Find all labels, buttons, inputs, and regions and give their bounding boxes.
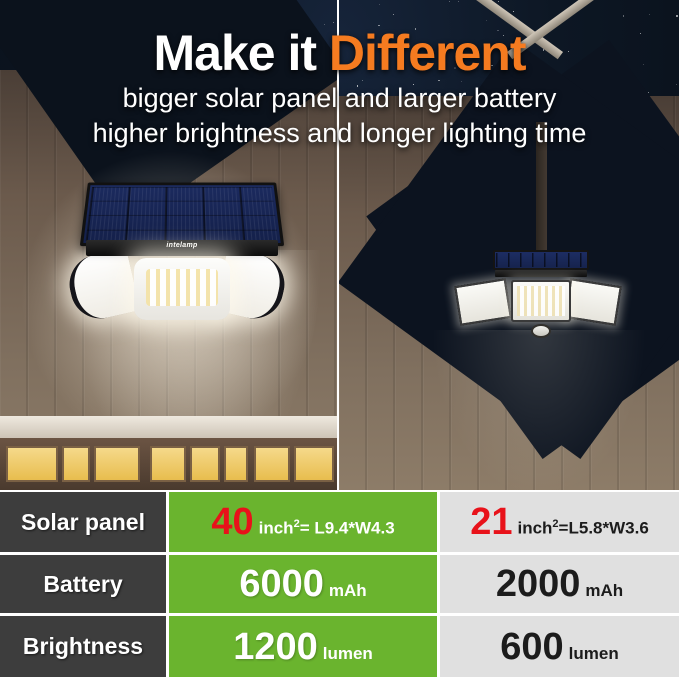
theirs-value-brightness: 600 xyxy=(500,628,563,666)
led-array-center xyxy=(146,269,218,306)
ours-unit-battery: mAh xyxy=(329,581,367,601)
table-row: Solar panel 40 inch2= L9.4*W4.3 21 inch2… xyxy=(0,492,679,552)
lit-window xyxy=(190,446,220,482)
brand-logo: intelamp xyxy=(86,242,278,249)
solar-panel-small xyxy=(493,250,589,270)
ours-value-solar-panel: 40 xyxy=(211,503,253,541)
ours-value-brightness: 1200 xyxy=(233,628,318,666)
ours-cell-brightness: 1200 lumen xyxy=(169,616,437,677)
motion-sensor-icon xyxy=(531,324,551,338)
window-band-left xyxy=(0,438,337,490)
led-head-left-small xyxy=(454,278,512,326)
theirs-unit-brightness: lumen xyxy=(569,644,619,664)
lit-window xyxy=(150,446,186,482)
ours-cell-solar-panel: 40 inch2= L9.4*W4.3 xyxy=(169,492,437,552)
led-head-center xyxy=(134,258,230,320)
ours-value-battery: 6000 xyxy=(239,565,324,603)
soffit-left xyxy=(0,416,337,438)
product-body-bar-small xyxy=(495,270,587,277)
lit-window xyxy=(62,446,90,482)
theirs-cell-battery: 2000 mAh xyxy=(440,555,679,613)
ours-unit-brightness: lumen xyxy=(323,644,373,664)
lit-window xyxy=(6,446,58,482)
led-head-left xyxy=(64,248,141,325)
solar-cells-large xyxy=(86,187,279,241)
product-light-large: intelamp xyxy=(62,180,292,330)
table-row: Brightness 1200 lumen 600 lumen xyxy=(0,616,679,677)
comparison-table: Solar panel 40 inch2= L9.4*W4.3 21 inch2… xyxy=(0,490,679,679)
theirs-value-solar-panel: 21 xyxy=(470,503,512,541)
theirs-cell-solar-panel: 21 inch2=L5.8*W3.6 xyxy=(440,492,679,552)
led-head-right-small xyxy=(564,278,622,326)
subtitle-line-1: bigger solar panel and larger battery xyxy=(0,82,679,115)
page-title: Make it Different xyxy=(0,26,679,80)
title-accent: Different xyxy=(329,25,526,81)
light-spill-right xyxy=(431,330,647,490)
ours-unit-solar-panel: inch2= L9.4*W4.3 xyxy=(259,518,395,539)
led-array-center-small xyxy=(517,286,565,316)
lit-window xyxy=(224,446,248,482)
row-label-battery: Battery xyxy=(0,555,166,613)
solar-panel-large xyxy=(80,183,284,247)
lit-window xyxy=(294,446,334,482)
table-row: Battery 6000 mAh 2000 mAh xyxy=(0,555,679,613)
theirs-value-battery: 2000 xyxy=(496,565,581,603)
lit-window xyxy=(94,446,140,482)
led-head-center-small xyxy=(511,280,571,322)
title-plain: Make it xyxy=(154,25,329,81)
subtitle-line-2: higher brightness and longer lighting ti… xyxy=(0,117,679,150)
header-banner: Make it Different bigger solar panel and… xyxy=(0,0,679,172)
row-label-brightness: Brightness xyxy=(0,616,166,677)
row-label-solar-panel: Solar panel xyxy=(0,492,166,552)
ours-cell-battery: 6000 mAh xyxy=(169,555,437,613)
product-comparison-infographic: intelamp xyxy=(0,0,679,679)
product-body-bar: intelamp xyxy=(86,240,278,256)
solar-cells-small xyxy=(496,253,586,267)
theirs-unit-battery: mAh xyxy=(585,581,623,601)
lit-window xyxy=(254,446,290,482)
theirs-cell-brightness: 600 lumen xyxy=(440,616,679,677)
product-light-small xyxy=(451,250,627,370)
theirs-unit-solar-panel: inch2=L5.8*W3.6 xyxy=(517,518,648,539)
